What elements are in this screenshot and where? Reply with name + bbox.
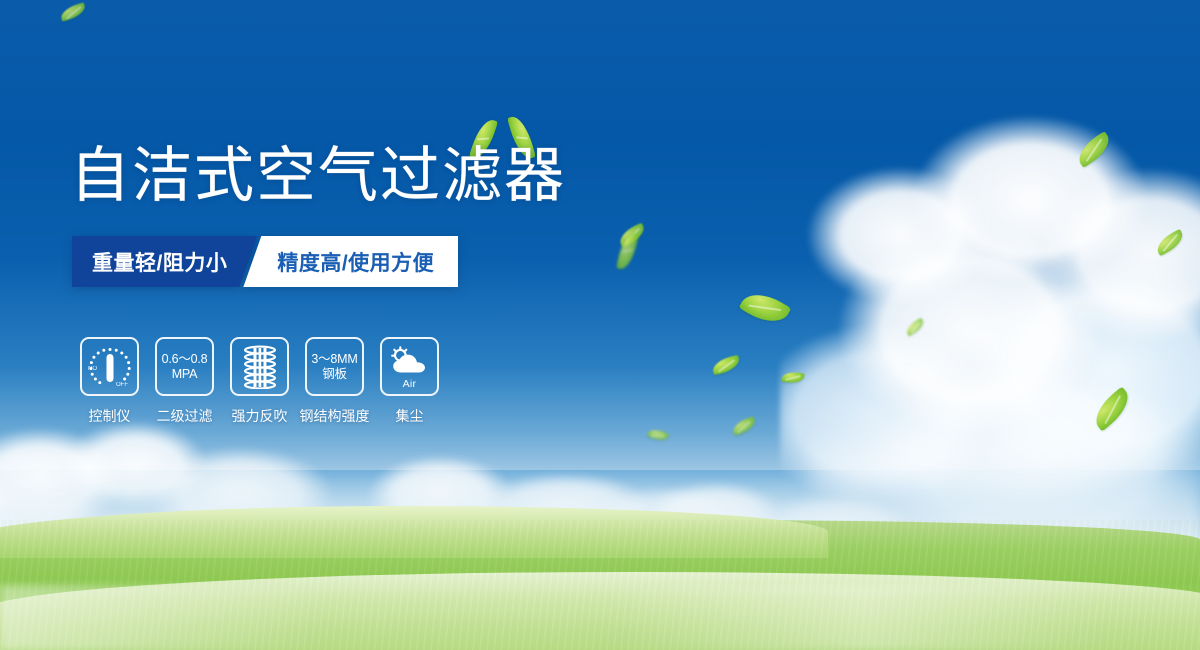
feature-item[interactable]: 3～8MM 钢板 钢结构强度 <box>305 337 364 426</box>
feature-icon-box: 3～8MM 钢板 <box>305 337 364 396</box>
grass-highlight <box>0 585 1200 650</box>
pressure-icon: 0.6～0.8 <box>162 352 208 367</box>
feature-label: 强力反吹 <box>232 406 288 426</box>
feature-icon-list: NO OFF 控制仪 0.6～0.8 MPA 二级过滤 <box>80 337 439 426</box>
product-banner: 自洁式空气过滤器 重量轻/阻力小 精度高/使用方便 <box>0 0 1200 650</box>
feature-item[interactable]: NO OFF 控制仪 <box>80 337 139 426</box>
feature-item[interactable]: Air 集尘 <box>380 337 439 426</box>
feature-item[interactable]: 0.6～0.8 MPA 二级过滤 <box>155 337 214 426</box>
badge-secondary: 精度高/使用方便 <box>243 236 458 287</box>
badge-primary: 重量轻/阻力小 <box>72 236 257 287</box>
air-label: Air <box>387 378 433 390</box>
pressure-unit: MPA <box>172 367 198 382</box>
feature-label: 集尘 <box>396 406 424 426</box>
tagline-badges: 重量轻/阻力小 精度高/使用方便 <box>72 236 458 287</box>
feature-icon-box: 0.6～0.8 MPA <box>155 337 214 396</box>
feature-label: 二级过滤 <box>157 406 213 426</box>
gauge-icon: NO OFF <box>86 344 134 390</box>
feature-icon-box <box>230 337 289 396</box>
steel-plate-material: 钢板 <box>322 367 347 382</box>
page-title: 自洁式空气过滤器 <box>70 146 566 206</box>
feature-icon-box: NO OFF <box>80 337 139 396</box>
filter-stack-icon <box>240 345 280 389</box>
feature-label: 钢结构强度 <box>300 406 370 426</box>
steel-plate-icon: 3～8MM <box>311 352 357 367</box>
feature-label: 控制仪 <box>89 406 131 426</box>
svg-text:NO: NO <box>88 366 97 372</box>
feature-icon-box: Air <box>380 337 439 396</box>
feature-item[interactable]: 强力反吹 <box>230 337 289 426</box>
svg-text:OFF: OFF <box>116 382 128 388</box>
cloud-air-icon: Air <box>387 346 433 388</box>
